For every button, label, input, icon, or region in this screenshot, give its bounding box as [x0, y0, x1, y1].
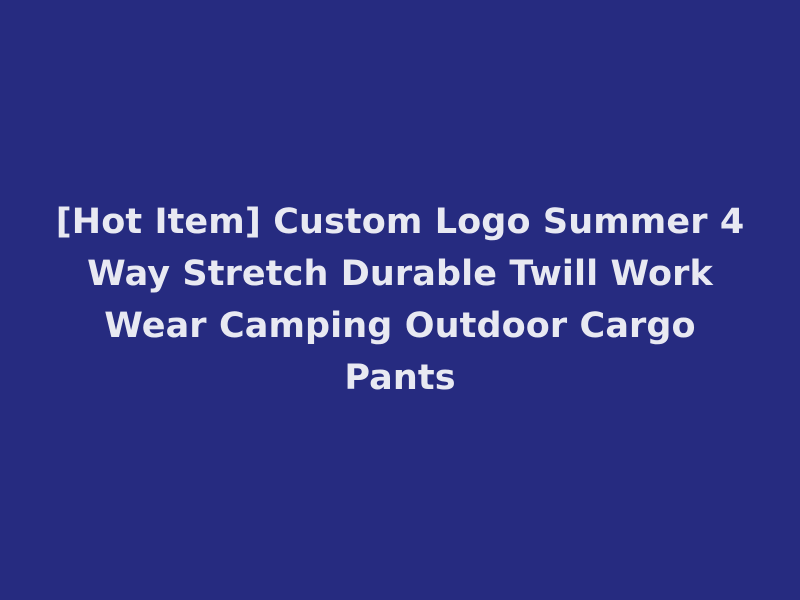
page-title: [Hot Item] Custom Logo Summer 4 Way Stre… [50, 196, 750, 404]
product-title-card: [Hot Item] Custom Logo Summer 4 Way Stre… [0, 0, 800, 600]
title-block: [Hot Item] Custom Logo Summer 4 Way Stre… [50, 196, 750, 404]
